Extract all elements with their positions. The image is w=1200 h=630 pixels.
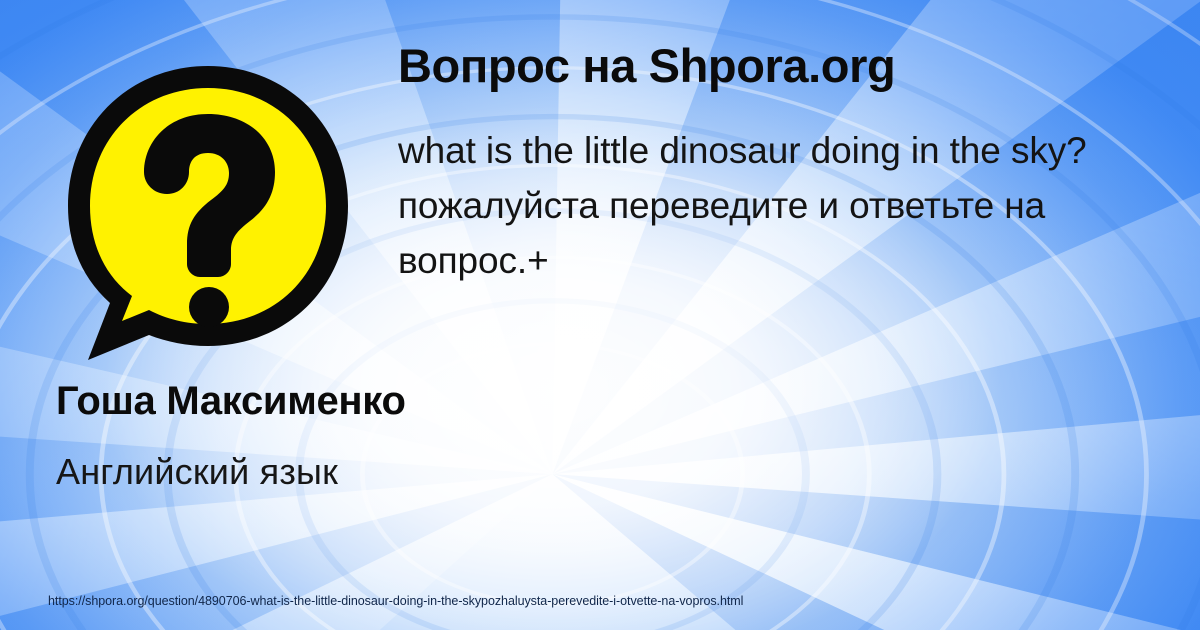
question-share-card: Вопрос на Shpora.org what is the little …	[0, 0, 1200, 630]
question-speech-bubble-icon	[48, 58, 358, 368]
question-column: Вопрос на Shpora.org what is the little …	[398, 40, 1198, 288]
page-title: Вопрос на Shpora.org	[398, 40, 1198, 93]
question-text: what is the little dinosaur doing in the…	[398, 123, 1198, 288]
author-block: Гоша Максименко Английский язык	[56, 378, 456, 494]
author-name: Гоша Максименко	[56, 378, 456, 424]
card-content: Вопрос на Shpora.org what is the little …	[0, 0, 1200, 630]
subject-label: Английский язык	[56, 450, 456, 493]
source-url[interactable]: https://shpora.org/question/4890706-what…	[48, 594, 743, 608]
